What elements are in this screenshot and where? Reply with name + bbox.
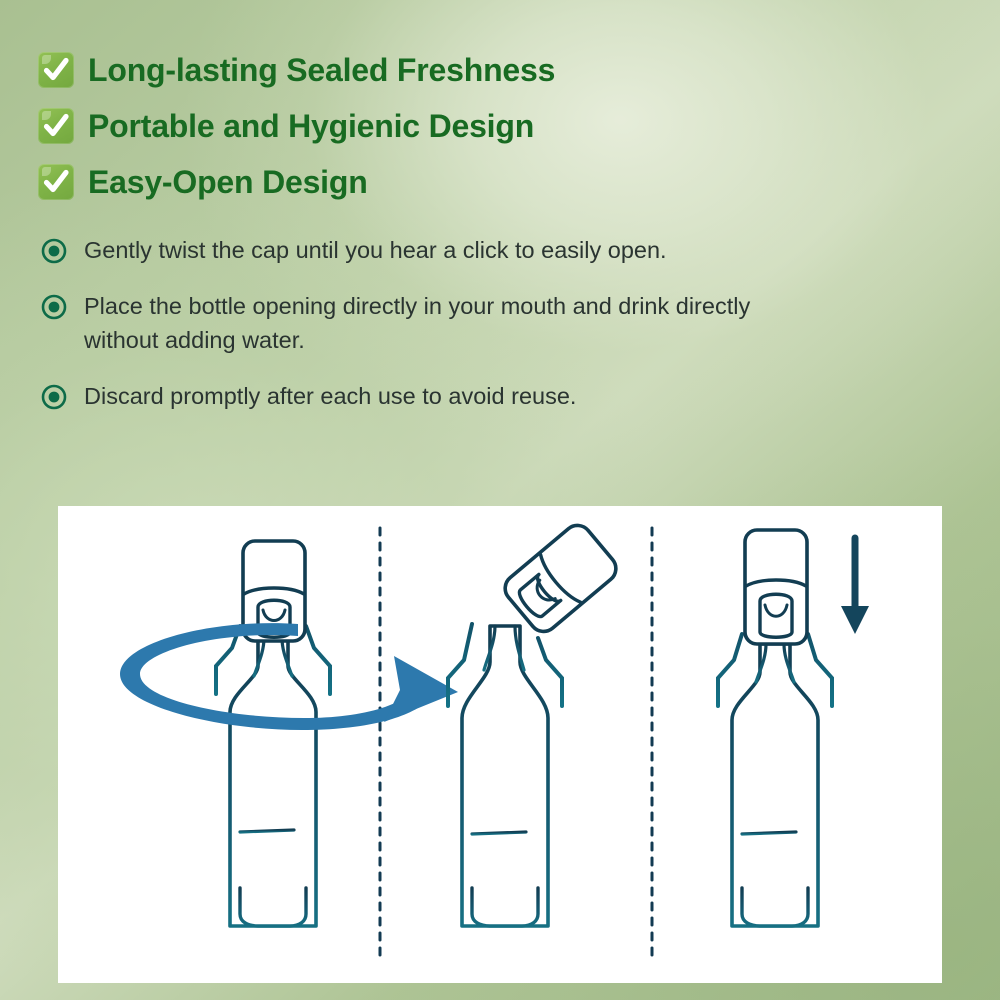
instruction-item: Place the bottle opening directly in you… xyxy=(40,289,830,357)
usage-steps-illustration xyxy=(58,506,942,983)
headline-text: Long-lasting Sealed Freshness xyxy=(88,54,555,86)
bottle-cap xyxy=(745,530,807,644)
feature-headline-list: Long-lasting Sealed Freshness Portable a… xyxy=(38,42,798,210)
bottle-usage-steps-panel xyxy=(58,506,942,983)
down-arrow-icon xyxy=(841,538,869,634)
headline-item: Easy-Open Design xyxy=(38,154,798,210)
check-square-icon xyxy=(38,108,74,144)
bullet-target-icon xyxy=(40,293,68,321)
instruction-text: Gently twist the cap until you hear a cl… xyxy=(84,233,667,267)
check-square-icon xyxy=(38,52,74,88)
check-square-icon xyxy=(38,164,74,200)
headline-text: Portable and Hygienic Design xyxy=(88,110,534,142)
headline-text: Easy-Open Design xyxy=(88,166,368,198)
press-cap-down-step xyxy=(718,530,869,954)
instruction-list: Gently twist the cap until you hear a cl… xyxy=(40,233,830,435)
instruction-item: Gently twist the cap until you hear a cl… xyxy=(40,233,830,267)
bullet-target-icon xyxy=(40,383,68,411)
instruction-text: Discard promptly after each use to avoid… xyxy=(84,379,576,413)
bullet-target-icon xyxy=(40,237,68,265)
headline-item: Portable and Hygienic Design xyxy=(38,98,798,154)
instruction-text: Place the bottle opening directly in you… xyxy=(84,289,824,357)
headline-item: Long-lasting Sealed Freshness xyxy=(38,42,798,98)
product-feature-poster: Long-lasting Sealed Freshness Portable a… xyxy=(0,0,1000,1000)
instruction-item: Discard promptly after each use to avoid… xyxy=(40,379,830,413)
twist-cap-step xyxy=(120,541,458,954)
bottle-cap xyxy=(499,520,621,637)
remove-cap-step xyxy=(448,520,622,954)
